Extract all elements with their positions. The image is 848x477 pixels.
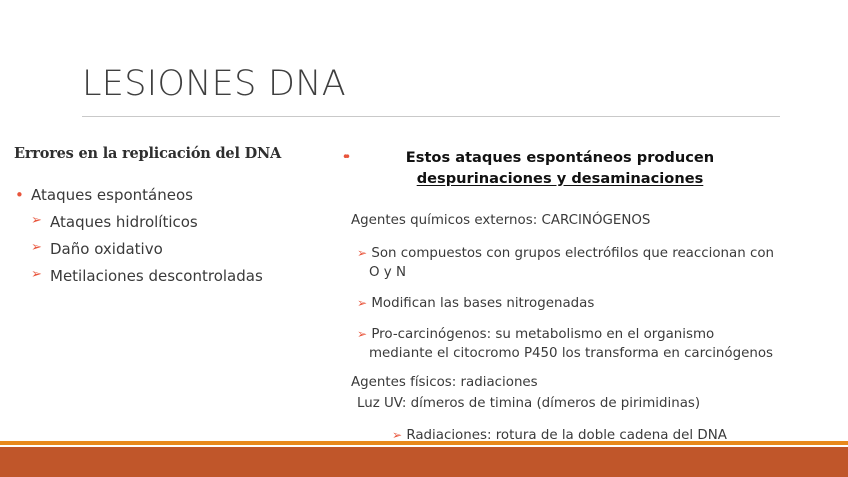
right-heading-line-2: despurinaciones y desaminaciones	[340, 169, 780, 190]
bullet-dot-icon: •	[344, 148, 351, 167]
right-heading-line-1: Estos ataques espontáneos producen	[340, 148, 780, 169]
right-content-column: Estos ataques espontáneos producen despu…	[340, 148, 780, 445]
list-item: ➢ Modifican las bases nitrogenadas	[340, 294, 780, 313]
list-item: • Ataques espontáneos	[14, 184, 344, 207]
list-item-label: Agentes físicos: radiaciones	[351, 375, 538, 390]
list-item: ➢ Ataques hidrolíticos	[14, 210, 344, 234]
list-item-label: Metilaciones descontroladas	[50, 267, 263, 285]
bullet-arrow-icon: ➢	[31, 237, 42, 259]
right-bullet-list: • Agentes químicos externos: CARCINÓGENO…	[340, 211, 780, 445]
bullet-arrow-icon: ➢	[31, 264, 42, 286]
bullet-arrow-icon: ➢	[357, 327, 367, 341]
bullet-dot-icon: •	[15, 184, 24, 207]
left-column-heading: Errores en la replicación del DNA	[14, 145, 344, 162]
list-item: • Agentes físicos: radiaciones	[340, 373, 780, 393]
right-column-heading: Estos ataques espontáneos producen despu…	[340, 148, 780, 189]
list-item-label: Ataques hidrolíticos	[50, 213, 198, 231]
list-item: ➢ Daño oxidativo	[14, 237, 344, 261]
list-item: ➢ Metilaciones descontroladas	[14, 264, 344, 288]
bullet-arrow-icon: ➢	[31, 210, 42, 232]
list-item-label: Modifican las bases nitrogenadas	[371, 296, 594, 311]
slide-canvas: LESIONES DNA Errores en la replicación d…	[0, 0, 848, 477]
bullet-arrow-icon: ➢	[357, 296, 367, 310]
footer-accent-stripe	[0, 441, 848, 445]
list-item-label: Pro-carcinógenos: su metabolismo en el o…	[369, 327, 773, 361]
list-item: ➢ Son compuestos con grupos electrófilos…	[340, 244, 780, 282]
bullet-arrow-icon: ➢	[357, 246, 367, 260]
bullet-arrow-icon: ➢	[392, 428, 402, 442]
left-content-column: Errores en la replicación del DNA • Ataq…	[14, 145, 344, 288]
title-divider	[82, 116, 780, 117]
list-item-label: Luz UV: dímeros de timina (dímeros de pi…	[357, 396, 700, 411]
left-bullet-list: • Ataques espontáneos ➢ Ataques hidrolít…	[14, 184, 344, 288]
list-item-label: Ataques espontáneos	[31, 186, 193, 204]
list-item-label: Daño oxidativo	[50, 240, 163, 258]
list-item: ➢ Pro-carcinógenos: su metabolismo en el…	[340, 325, 780, 363]
footer-band	[0, 447, 848, 477]
list-item: • Agentes químicos externos: CARCINÓGENO…	[340, 211, 780, 231]
list-item-label: Son compuestos con grupos electrófilos q…	[369, 246, 774, 280]
page-title: LESIONES DNA	[82, 66, 346, 103]
list-item-label: Agentes químicos externos: CARCINÓGENOS	[351, 213, 650, 228]
list-item: • Luz UV: dímeros de timina (dímeros de …	[340, 394, 780, 414]
